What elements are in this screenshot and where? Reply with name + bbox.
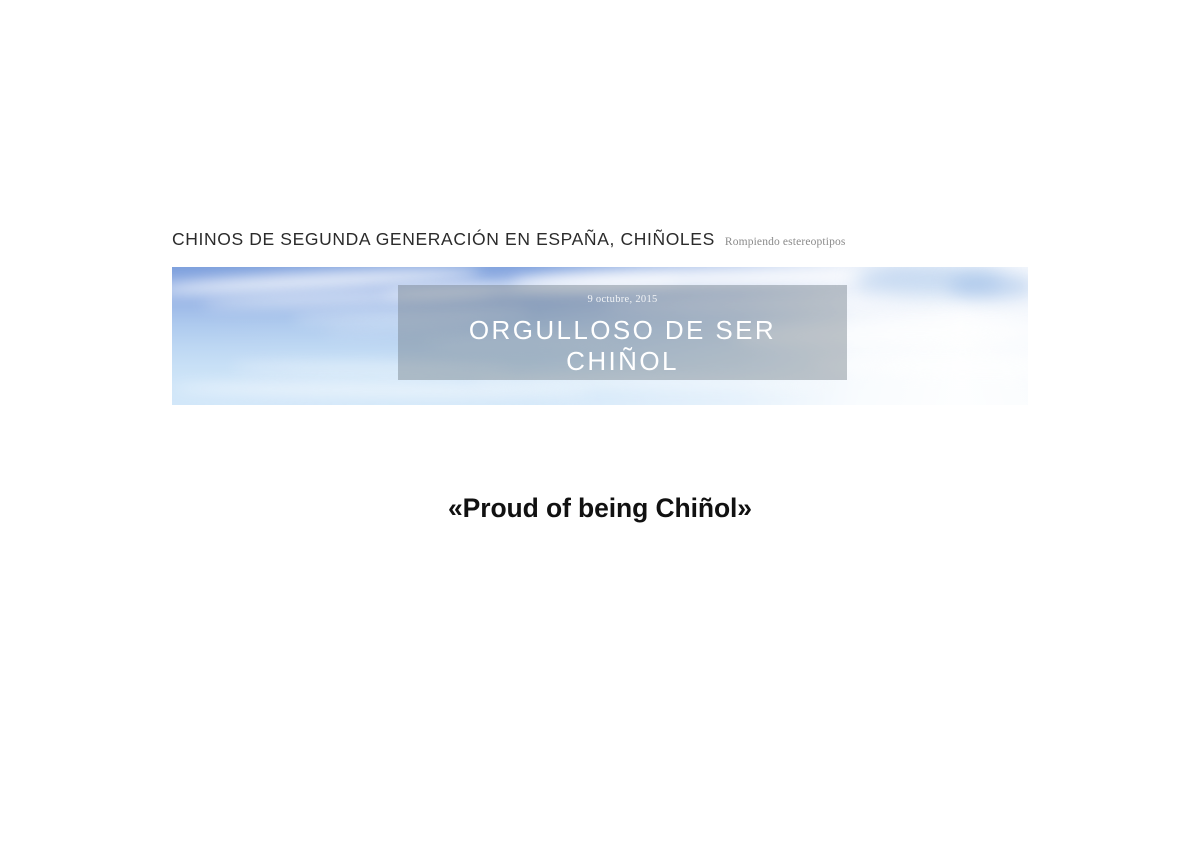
site-header: CHINOS DE SEGUNDA GENERACIÓN EN ESPAÑA, …	[172, 231, 1032, 249]
post-banner-image[interactable]: 9 octubre, 2015 ORGULLOSO DE SER CHIÑOL	[172, 267, 1028, 405]
site-tagline: Rompiendo estereoptipos	[725, 237, 846, 249]
site-title[interactable]: CHINOS DE SEGUNDA GENERACIÓN EN ESPAÑA, …	[172, 231, 715, 249]
post-date: 9 octubre, 2015	[587, 295, 657, 306]
sky-patch	[948, 273, 1028, 299]
banner-text-overlay: 9 octubre, 2015 ORGULLOSO DE SER CHIÑOL	[398, 285, 847, 380]
article-heading: «Proud of being Chiñol»	[0, 492, 1200, 525]
post-banner-title[interactable]: ORGULLOSO DE SER CHIÑOL	[469, 315, 776, 378]
